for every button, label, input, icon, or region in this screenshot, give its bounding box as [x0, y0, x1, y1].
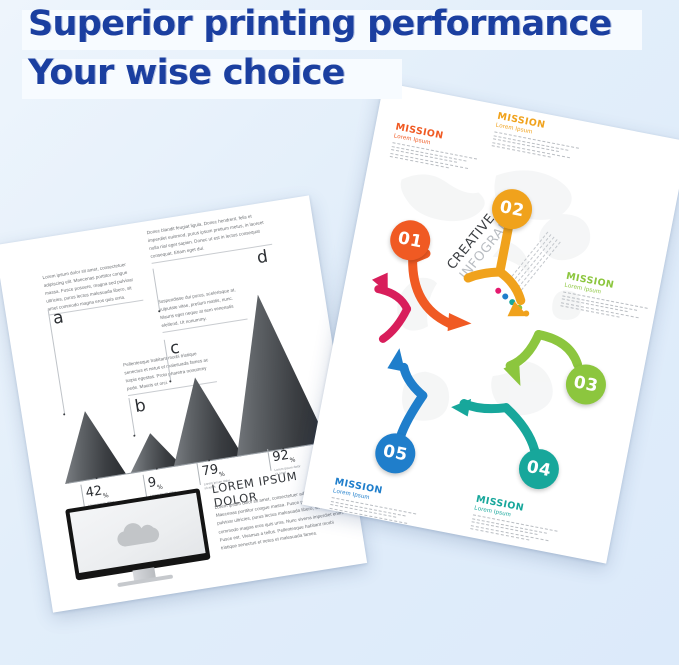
- chart-value-3: 79: [201, 462, 220, 479]
- chart-value-1: 42: [85, 483, 104, 500]
- headline-text-2: Your wise choice: [28, 53, 345, 93]
- chart-value-4: 92: [271, 448, 290, 465]
- headline-text-1: Superior printing performance: [28, 4, 612, 44]
- headline: Superior printing performance Your wise …: [0, 0, 679, 104]
- printed-sample-infographic-page: CREATIVE INFOGRAPHIC: [302, 82, 679, 563]
- chart-label-d: d: [256, 247, 270, 268]
- printed-sample-chart-page: Lorem ipsum dolor sit amet, consectetuer…: [0, 195, 367, 612]
- chart-value-cell-4: 92% Lorem ipsum dolor sit amet: [267, 444, 304, 471]
- monitor-display: [70, 493, 206, 573]
- chart-unit-4: %: [289, 456, 296, 464]
- chart-label-c: c: [169, 338, 181, 359]
- chart-value-2: 9: [147, 475, 158, 491]
- axis-tick-1: [95, 477, 98, 480]
- leader-rule-d: [152, 269, 160, 313]
- chart-triangle-1: [54, 406, 126, 484]
- headline-line-2: Your wise choice: [28, 53, 679, 100]
- chart-unit-1: %: [102, 492, 109, 500]
- chart-unit-3: %: [219, 471, 226, 479]
- chart-unit-2: %: [157, 484, 164, 492]
- cloud-icon: [113, 518, 162, 547]
- text-block-d: Donec blandit feugiat ligula. Donec hend…: [146, 210, 272, 263]
- axis-tick-2: [156, 467, 159, 470]
- chart-label-b: b: [133, 396, 147, 417]
- headline-line-1: Superior printing performance: [28, 4, 679, 51]
- promotional-banner: Superior printing performance Your wise …: [0, 0, 679, 665]
